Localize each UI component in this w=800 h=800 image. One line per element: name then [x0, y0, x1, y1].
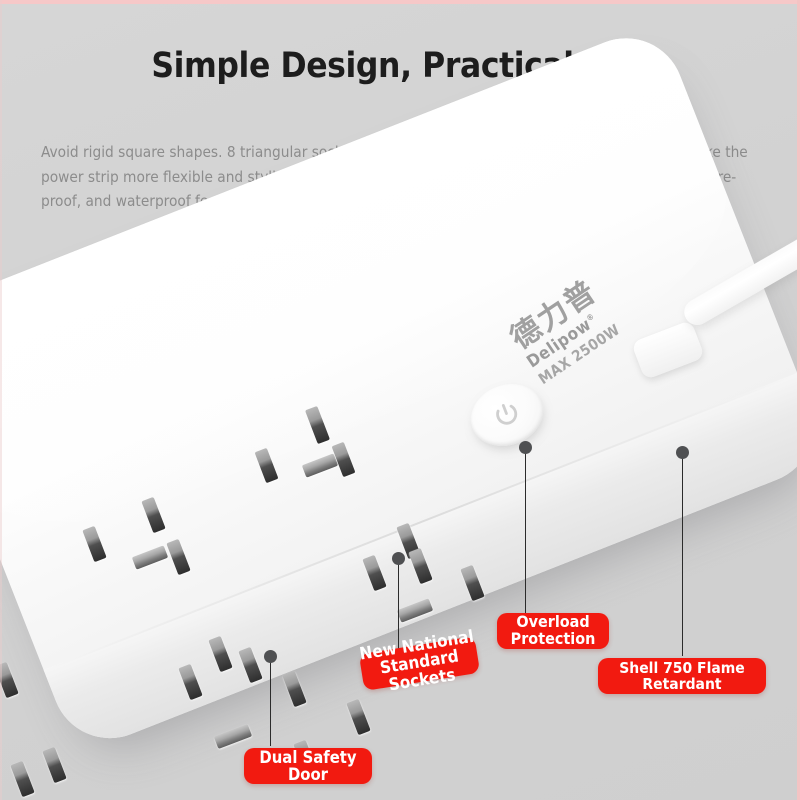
product-image-canvas: Simple Design, Practical Use Avoid rigid… [0, 0, 800, 800]
callout-line: Retardant [619, 676, 745, 692]
callout-overload-protection[interactable]: Overload Protection [497, 613, 609, 649]
socket-slot [0, 662, 19, 698]
callout-dot-flame-retardant [676, 446, 689, 459]
callout-dot-dual-safety-door [264, 650, 277, 663]
callout-leader-overload [525, 447, 526, 613]
callout-leader-dual-safety-door [270, 656, 271, 746]
callout-new-national-standard-sockets[interactable]: New National Standard Sockets [359, 636, 480, 691]
callout-dot-overload [519, 441, 532, 454]
socket-slot [214, 724, 252, 749]
socket-slot [346, 699, 370, 735]
callout-leader-flame-retardant [682, 452, 683, 656]
socket-slot [10, 761, 34, 797]
callout-line: Shell 750 Flame [619, 660, 745, 676]
socket-slot [42, 747, 66, 783]
socket-slot [282, 671, 306, 707]
callout-line: Dual Safety [259, 749, 356, 766]
power-icon [490, 398, 524, 432]
callout-leader-national-standard [398, 558, 399, 650]
callout-dual-safety-door[interactable]: Dual Safety Door [244, 748, 372, 784]
callout-line: Protection [511, 631, 596, 648]
callout-line: Door [259, 766, 356, 783]
callout-dot-national-standard [392, 552, 405, 565]
callout-shell-flame-retardant[interactable]: Shell 750 Flame Retardant [598, 658, 766, 694]
frame-border-top [0, 0, 800, 4]
frame-border-left [0, 0, 2, 800]
